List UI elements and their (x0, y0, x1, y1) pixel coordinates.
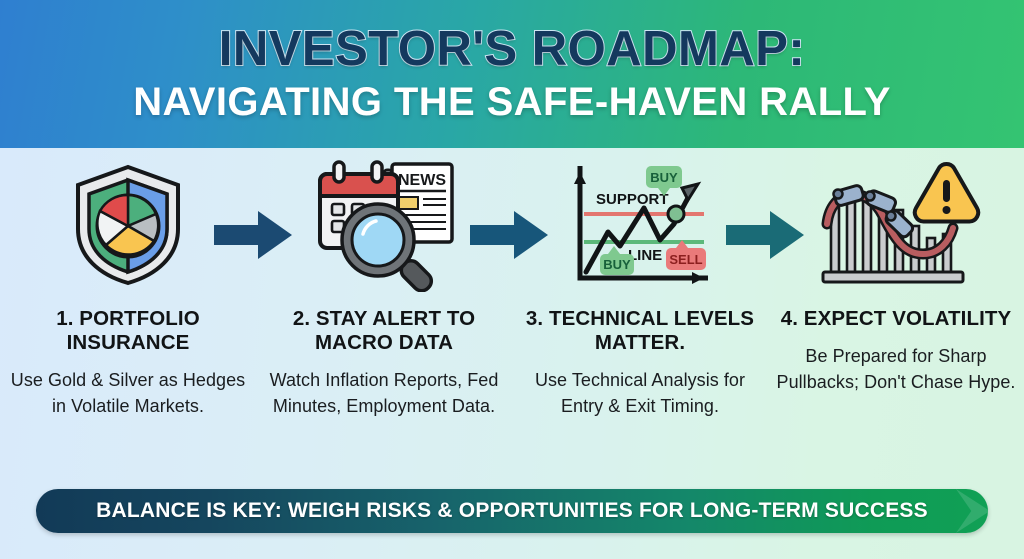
rollercoaster-warning-icon (811, 158, 981, 292)
page-subtitle: NAVIGATING THE SAFE-HAVEN RALLY (133, 80, 891, 124)
arrow-step2-to-step3 (470, 207, 548, 263)
news-label: NEWS (398, 172, 446, 189)
step-2-title: 2. STAY ALERT TO MACRO DATA (264, 307, 504, 355)
arrow-step3-to-step4 (726, 207, 804, 263)
bottom-banner[interactable]: BALANCE IS KEY: WEIGH RISKS & OPPORTUNIT… (36, 489, 988, 533)
support-label: SUPPORT (596, 191, 669, 208)
step-4-description: Be Prepared for Sharp Pullbacks; Don't C… (776, 343, 1016, 395)
step-3-title: 3. TECHNICAL LEVELS MATTER. (520, 307, 760, 355)
step-2-description: Watch Inflation Reports, Fed Minutes, Em… (264, 367, 504, 419)
step-card-2[interactable]: NEWS (256, 155, 512, 420)
calendar-news-magnifier-icon: NEWS (308, 158, 460, 292)
svg-text:BUY: BUY (650, 170, 678, 185)
step-3-icon-area: SUPPORT LINE BUY BUY SEL (520, 155, 760, 295)
step-2-icon-area: NEWS (264, 155, 504, 295)
step-1-description: Use Gold & Silver as Hedges in Volatile … (8, 367, 248, 419)
step-card-1[interactable]: 1. PORTFOLIO INSURANCE Use Gold & Silver… (0, 155, 256, 420)
shield-pie-chart-icon (70, 161, 186, 289)
step-1-icon-area (8, 155, 248, 295)
technical-chart-icon: SUPPORT LINE BUY BUY SEL (562, 158, 718, 292)
header-banner: INVESTOR'S ROADMAP: NAVIGATING THE SAFE-… (0, 0, 1024, 148)
step-4-title: 4. EXPECT VOLATILITY (781, 307, 1012, 331)
step-card-4[interactable]: 4. EXPECT VOLATILITY Be Prepared for Sha… (768, 155, 1024, 395)
step-1-title: 1. PORTFOLIO INSURANCE (8, 307, 248, 355)
page-title: INVESTOR'S ROADMAP: (219, 24, 806, 75)
step-card-3[interactable]: SUPPORT LINE BUY BUY SEL (512, 155, 768, 420)
bottom-banner-wrap: BALANCE IS KEY: WEIGH RISKS & OPPORTUNIT… (0, 487, 1024, 535)
steps-row: 1. PORTFOLIO INSURANCE Use Gold & Silver… (0, 155, 1024, 475)
bottom-banner-text: BALANCE IS KEY: WEIGH RISKS & OPPORTUNIT… (96, 499, 928, 523)
arrow-step1-to-step2 (214, 207, 292, 263)
sell-badge: SELL (666, 240, 706, 270)
step-4-icon-area (776, 155, 1016, 295)
warning-triangle-icon (915, 164, 978, 222)
banner-chevron-icon (956, 489, 988, 533)
svg-text:SELL: SELL (669, 252, 702, 267)
svg-text:BUY: BUY (603, 257, 631, 272)
step-3-description: Use Technical Analysis for Entry & Exit … (520, 367, 760, 419)
